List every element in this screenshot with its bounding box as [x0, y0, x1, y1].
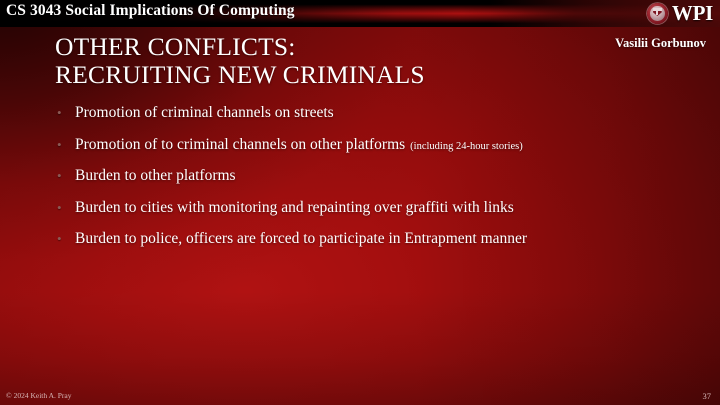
bullet-dot-icon: •: [57, 169, 75, 182]
wpi-wordmark: WPI: [672, 3, 713, 24]
list-item-text: Promotion of to criminal channels on oth…: [75, 136, 405, 154]
wpi-seal-shield-stem: [656, 8, 658, 15]
slide-header-bar: CS 3043 Social Implications Of Computing…: [0, 0, 720, 27]
list-item: • Promotion of criminal channels on stre…: [57, 104, 697, 136]
list-item-text: Burden to police, officers are forced to…: [75, 230, 527, 248]
list-item-text: Promotion of criminal channels on street…: [75, 104, 334, 122]
list-item: • Promotion of to criminal channels on o…: [57, 136, 697, 168]
wpi-seal-icon: [647, 3, 668, 24]
list-item: • Burden to cities with monitoring and r…: [57, 199, 697, 231]
bullet-dot-icon: •: [57, 201, 75, 214]
course-title: CS 3043 Social Implications Of Computing: [6, 2, 295, 20]
list-item: • Burden to other platforms: [57, 167, 697, 199]
slide-title: OTHER CONFLICTS: RECRUITING NEW CRIMINAL…: [55, 33, 575, 89]
presentation-slide: CS 3043 Social Implications Of Computing…: [0, 0, 720, 405]
copyright-notice: © 2024 Keith A. Pray: [6, 391, 72, 400]
bullet-dot-icon: •: [57, 232, 75, 245]
list-item-text: Burden to other platforms: [75, 167, 236, 185]
page-number: 37: [703, 391, 712, 401]
author-name: Vasilii Gorbunov: [615, 36, 706, 51]
list-item-note: (including 24-hour stories): [410, 141, 523, 152]
list-item: • Burden to police, officers are forced …: [57, 230, 697, 262]
bullet-list: • Promotion of criminal channels on stre…: [57, 104, 697, 262]
slide-title-line-1: OTHER CONFLICTS:: [55, 33, 575, 61]
bullet-dot-icon: •: [57, 106, 75, 119]
bullet-dot-icon: •: [57, 138, 75, 151]
slide-title-line-2: RECRUITING NEW CRIMINALS: [55, 61, 575, 89]
list-item-text: Burden to cities with monitoring and rep…: [75, 199, 514, 217]
wpi-logo: WPI: [647, 1, 713, 26]
